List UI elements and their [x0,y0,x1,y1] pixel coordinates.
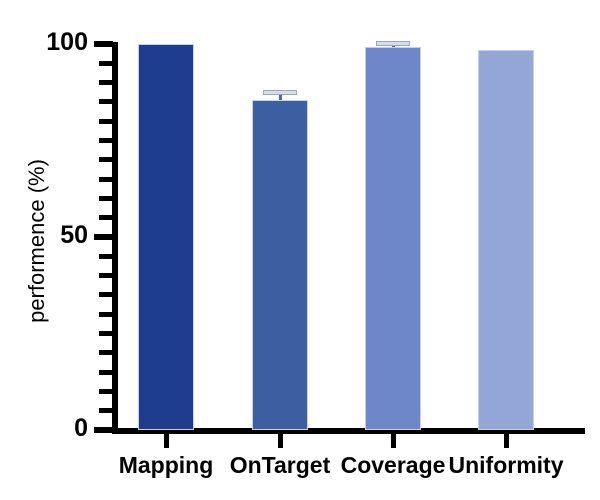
y-axis-minor-tick [99,389,113,394]
y-axis-minor-tick [99,312,113,317]
y-axis-tick-label: 100 [0,30,88,55]
y-axis-minor-tick [99,119,113,124]
bar-chart-figure: performence (%) 050100 MappingOnTargetCo… [0,0,600,500]
bar-mapping [138,44,194,430]
error-bar-cap-ontarget [263,90,298,95]
y-axis-minor-tick [99,350,113,355]
y-axis-minor-tick [99,273,113,278]
y-axis-major-tick [94,427,113,433]
y-axis-minor-tick [99,408,113,413]
y-axis-major-tick [94,234,113,240]
bar-uniformity [478,50,534,430]
y-axis-minor-tick [99,157,113,162]
x-axis-label-uniformity: Uniformity [426,452,586,479]
y-axis-minor-tick [99,196,113,201]
y-axis-minor-tick [99,331,113,336]
y-axis-minor-tick [99,80,113,85]
x-axis-tick [504,434,509,448]
y-axis-major-tick [94,41,113,47]
y-axis-minor-tick [99,254,113,259]
y-axis-minor-tick [99,99,113,104]
x-axis-tick [391,434,396,448]
y-axis-minor-tick [99,370,113,375]
x-axis-tick [164,434,169,448]
y-axis-minor-tick [99,215,113,220]
y-axis-tick-label: 0 [0,416,88,441]
bar-ontarget [252,100,308,430]
y-axis-minor-tick [99,138,113,143]
y-axis-minor-tick [99,61,113,66]
error-bar-cap-coverage [376,41,411,46]
y-axis-minor-tick [99,177,113,182]
y-axis-tick-label: 50 [0,223,88,248]
bar-coverage [365,47,421,430]
plot-area: performence (%) 050100 MappingOnTargetCo… [0,0,600,500]
x-axis-tick [278,434,283,448]
y-axis-minor-tick [99,292,113,297]
